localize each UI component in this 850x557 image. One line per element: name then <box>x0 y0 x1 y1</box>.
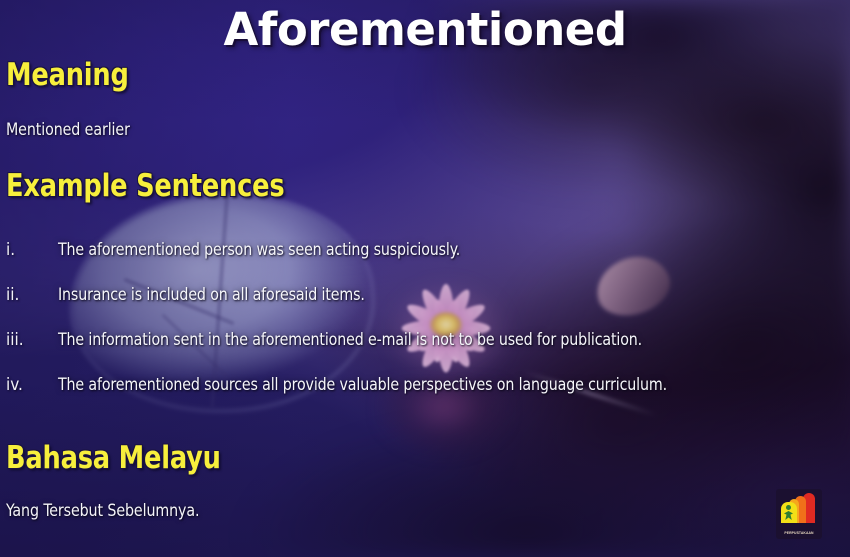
list-item: iii. The information sent in the aforeme… <box>0 330 850 375</box>
example-sentence-list: i. The aforementioned person was seen ac… <box>0 240 850 420</box>
list-item: ii. Insurance is included on all aforesa… <box>0 285 850 330</box>
content-layer: Aforementioned Meaning Mentioned earlier… <box>0 0 850 557</box>
lesson-card: Aforementioned Meaning Mentioned earlier… <box>0 0 850 557</box>
sentence-text: Insurance is included on all aforesaid i… <box>58 285 365 305</box>
malay-translation: Yang Tersebut Sebelumnya. <box>6 501 199 521</box>
list-marker: iii. <box>6 330 48 350</box>
heading-bahasa-melayu: Bahasa Melayu <box>6 440 221 476</box>
list-marker: i. <box>6 240 48 260</box>
list-item: iv. The aforementioned sources all provi… <box>0 375 850 420</box>
list-marker: iv. <box>6 375 48 395</box>
book-and-person-logo: PERPUSTAKAAN <box>776 489 822 539</box>
logo-person-head <box>786 505 791 510</box>
page-title: Aforementioned <box>0 3 850 56</box>
sentence-text: The aforementioned person was seen actin… <box>58 240 460 260</box>
list-item: i. The aforementioned person was seen ac… <box>0 240 850 285</box>
sentence-text: The information sent in the aforemention… <box>58 330 642 350</box>
meaning-definition: Mentioned earlier <box>6 120 130 140</box>
heading-meaning: Meaning <box>6 57 129 93</box>
heading-example-sentences: Example Sentences <box>6 168 284 204</box>
sentence-text: The aforementioned sources all provide v… <box>58 375 667 395</box>
logo-artwork <box>781 493 817 523</box>
logo-caption: PERPUSTAKAAN <box>776 531 822 536</box>
list-marker: ii. <box>6 285 48 305</box>
